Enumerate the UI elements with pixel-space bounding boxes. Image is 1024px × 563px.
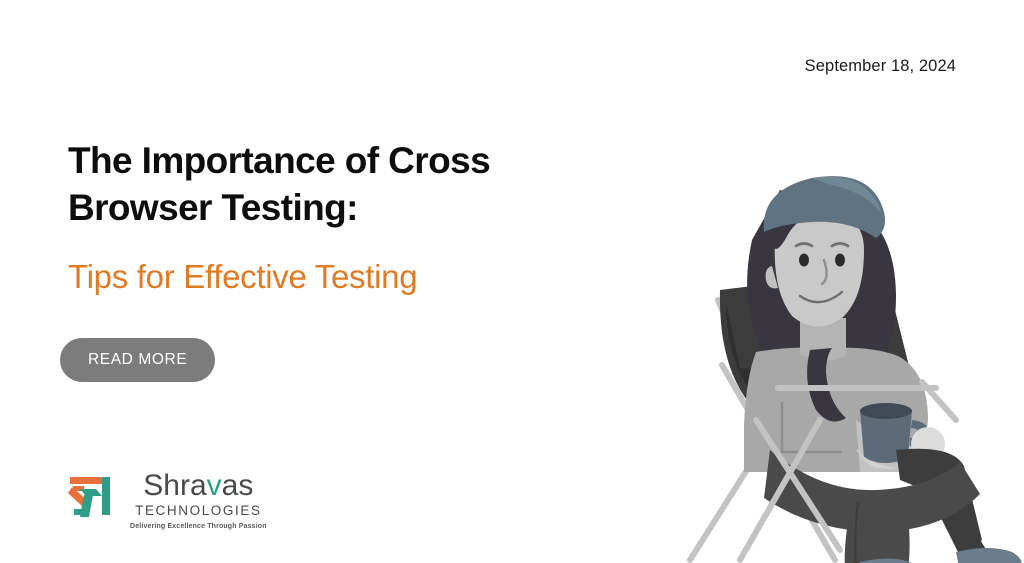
logo-check-v: v bbox=[207, 471, 222, 501]
logo-tagline: Delivering Excellence Through Passion bbox=[130, 523, 267, 530]
hero-illustration bbox=[660, 120, 1024, 563]
front-shin bbox=[845, 502, 910, 563]
headline-line-1: The Importance of Cross bbox=[68, 140, 490, 181]
back-shoe bbox=[956, 548, 1022, 563]
logo-word-part2: as bbox=[222, 471, 254, 501]
headline-line-2: Browser Testing: bbox=[68, 187, 358, 228]
right-eye bbox=[835, 254, 845, 267]
page-title: The Importance of Cross Browser Testing: bbox=[68, 138, 628, 231]
page-subtitle: Tips for Effective Testing bbox=[68, 257, 628, 297]
brand-logo[interactable]: Shravas TECHNOLOGIES Delivering Excellen… bbox=[66, 465, 267, 530]
logo-wordmark: Shravas TECHNOLOGIES Delivering Excellen… bbox=[130, 465, 267, 530]
logo-subtitle: TECHNOLOGIES bbox=[135, 503, 261, 518]
logo-word-part1: Shra bbox=[143, 471, 206, 501]
headline-block: The Importance of Cross Browser Testing:… bbox=[68, 138, 628, 297]
blog-banner: September 18, 2024 The Importance of Cro… bbox=[0, 0, 1024, 563]
shravas-mark-icon bbox=[66, 465, 124, 523]
publish-date: September 18, 2024 bbox=[805, 57, 956, 76]
read-more-button[interactable]: READ MORE bbox=[60, 338, 215, 382]
logo-word: Shravas bbox=[143, 471, 253, 501]
left-eye bbox=[799, 254, 809, 267]
